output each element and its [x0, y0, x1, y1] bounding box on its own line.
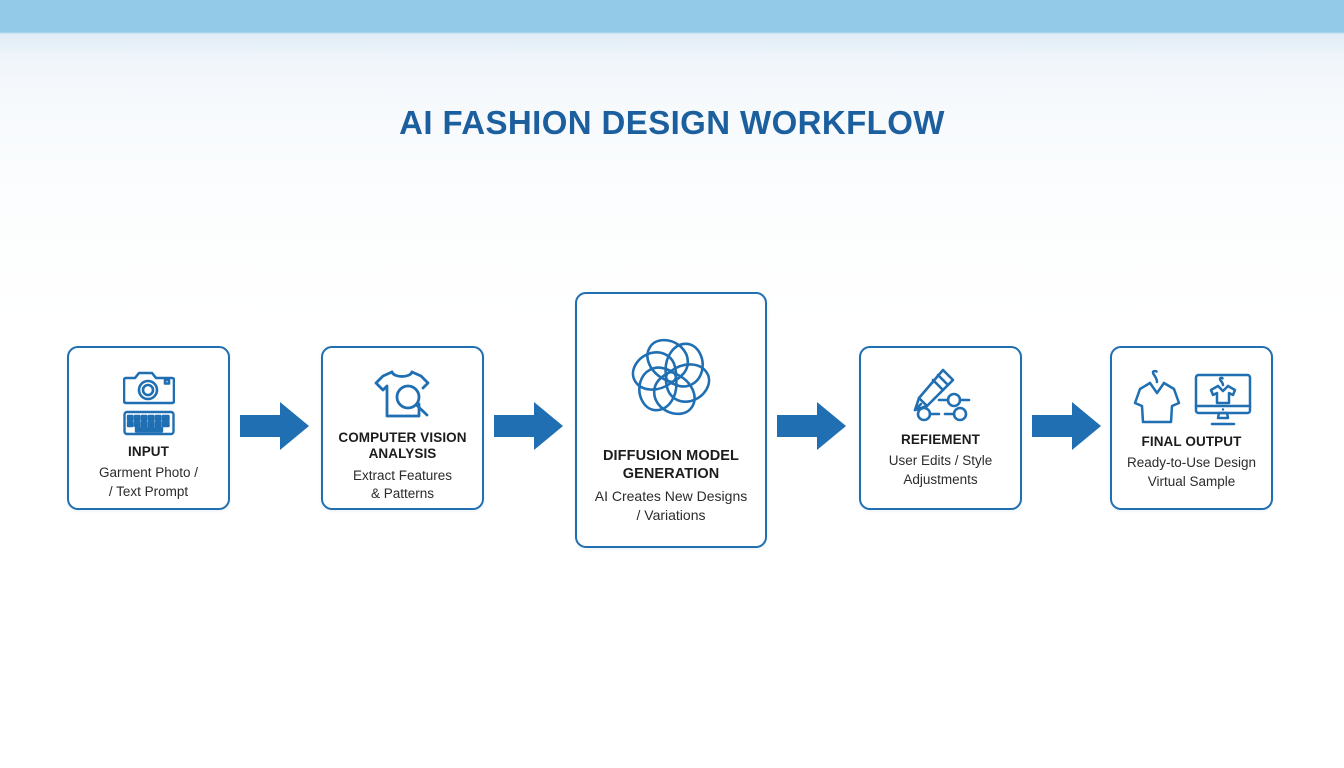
step-subtitle-line2: Adjustments [889, 471, 993, 489]
analysis-icon-group [372, 366, 434, 424]
workflow-step-computer-vision-analysis[interactable]: COMPUTER VISION ANALYSIS Extract Feature… [321, 346, 484, 510]
step-title-line1: DIFFUSION MODEL [603, 448, 739, 466]
step-subtitle-line1: Garment Photo / [99, 464, 198, 482]
step-subtitle: Garment Photo / / Text Prompt [99, 464, 198, 500]
diagram-canvas: AI FASHION DESIGN WORKFLOW [0, 0, 1344, 768]
arrow-analysis-to-generation [494, 400, 564, 452]
step-subtitle-line2: / Text Prompt [99, 483, 198, 501]
step-subtitle: Extract Features & Patterns [353, 467, 452, 503]
pinwheel-rosette-icon [619, 324, 723, 430]
step-subtitle-line1: User Edits / Style [889, 452, 993, 470]
step-subtitle: AI Creates New Designs / Variations [595, 487, 748, 525]
step-title-line2: GENERATION [603, 466, 739, 484]
step-title: COMPUTER VISION ANALYSIS [338, 430, 466, 463]
monitor-garment-icon [1194, 370, 1252, 426]
step-subtitle-line2: / Variations [595, 506, 748, 525]
step-title: FINAL OUTPUT [1142, 434, 1242, 450]
step-title-line1: COMPUTER VISION [338, 430, 466, 446]
step-subtitle: User Edits / Style Adjustments [889, 452, 993, 488]
workflow-step-final-output[interactable]: FINAL OUTPUT Ready-to-Use Design Virtual… [1110, 346, 1273, 510]
keyboard-icon [123, 410, 175, 436]
step-title: INPUT [128, 444, 169, 460]
arrow-input-to-analysis [240, 400, 310, 452]
step-subtitle-line2: & Patterns [353, 485, 452, 503]
camera-icon [123, 368, 175, 406]
step-subtitle-line2: Virtual Sample [1127, 473, 1256, 491]
garment-hanger-icon [1132, 370, 1182, 426]
step-subtitle-line1: Extract Features [353, 467, 452, 485]
input-icon-group [123, 368, 175, 436]
arrow-generation-to-refiement [777, 400, 847, 452]
workflow-step-refiement[interactable]: REFIEMENT User Edits / Style Adjustments [859, 346, 1022, 510]
step-subtitle-line1: Ready-to-Use Design [1127, 454, 1256, 472]
pencil-sliders-icon [909, 368, 973, 424]
step-subtitle-line1: AI Creates New Designs [595, 487, 748, 506]
generation-icon-group [619, 324, 723, 430]
page-title: AI FASHION DESIGN WORKFLOW [0, 104, 1344, 142]
tshirt-magnifier-icon [372, 366, 434, 424]
workflow-step-input[interactable]: INPUT Garment Photo / / Text Prompt [67, 346, 230, 510]
step-title-line2: ANALYSIS [338, 446, 466, 462]
step-subtitle: Ready-to-Use Design Virtual Sample [1127, 454, 1256, 490]
arrow-refiement-to-output [1032, 400, 1102, 452]
step-title: DIFFUSION MODEL GENERATION [603, 448, 739, 483]
final-output-icon-group [1132, 370, 1252, 426]
workflow-step-diffusion-model-generation[interactable]: DIFFUSION MODEL GENERATION AI Creates Ne… [575, 292, 767, 548]
step-title: REFIEMENT [901, 432, 980, 448]
refiement-icon-group [909, 368, 973, 424]
